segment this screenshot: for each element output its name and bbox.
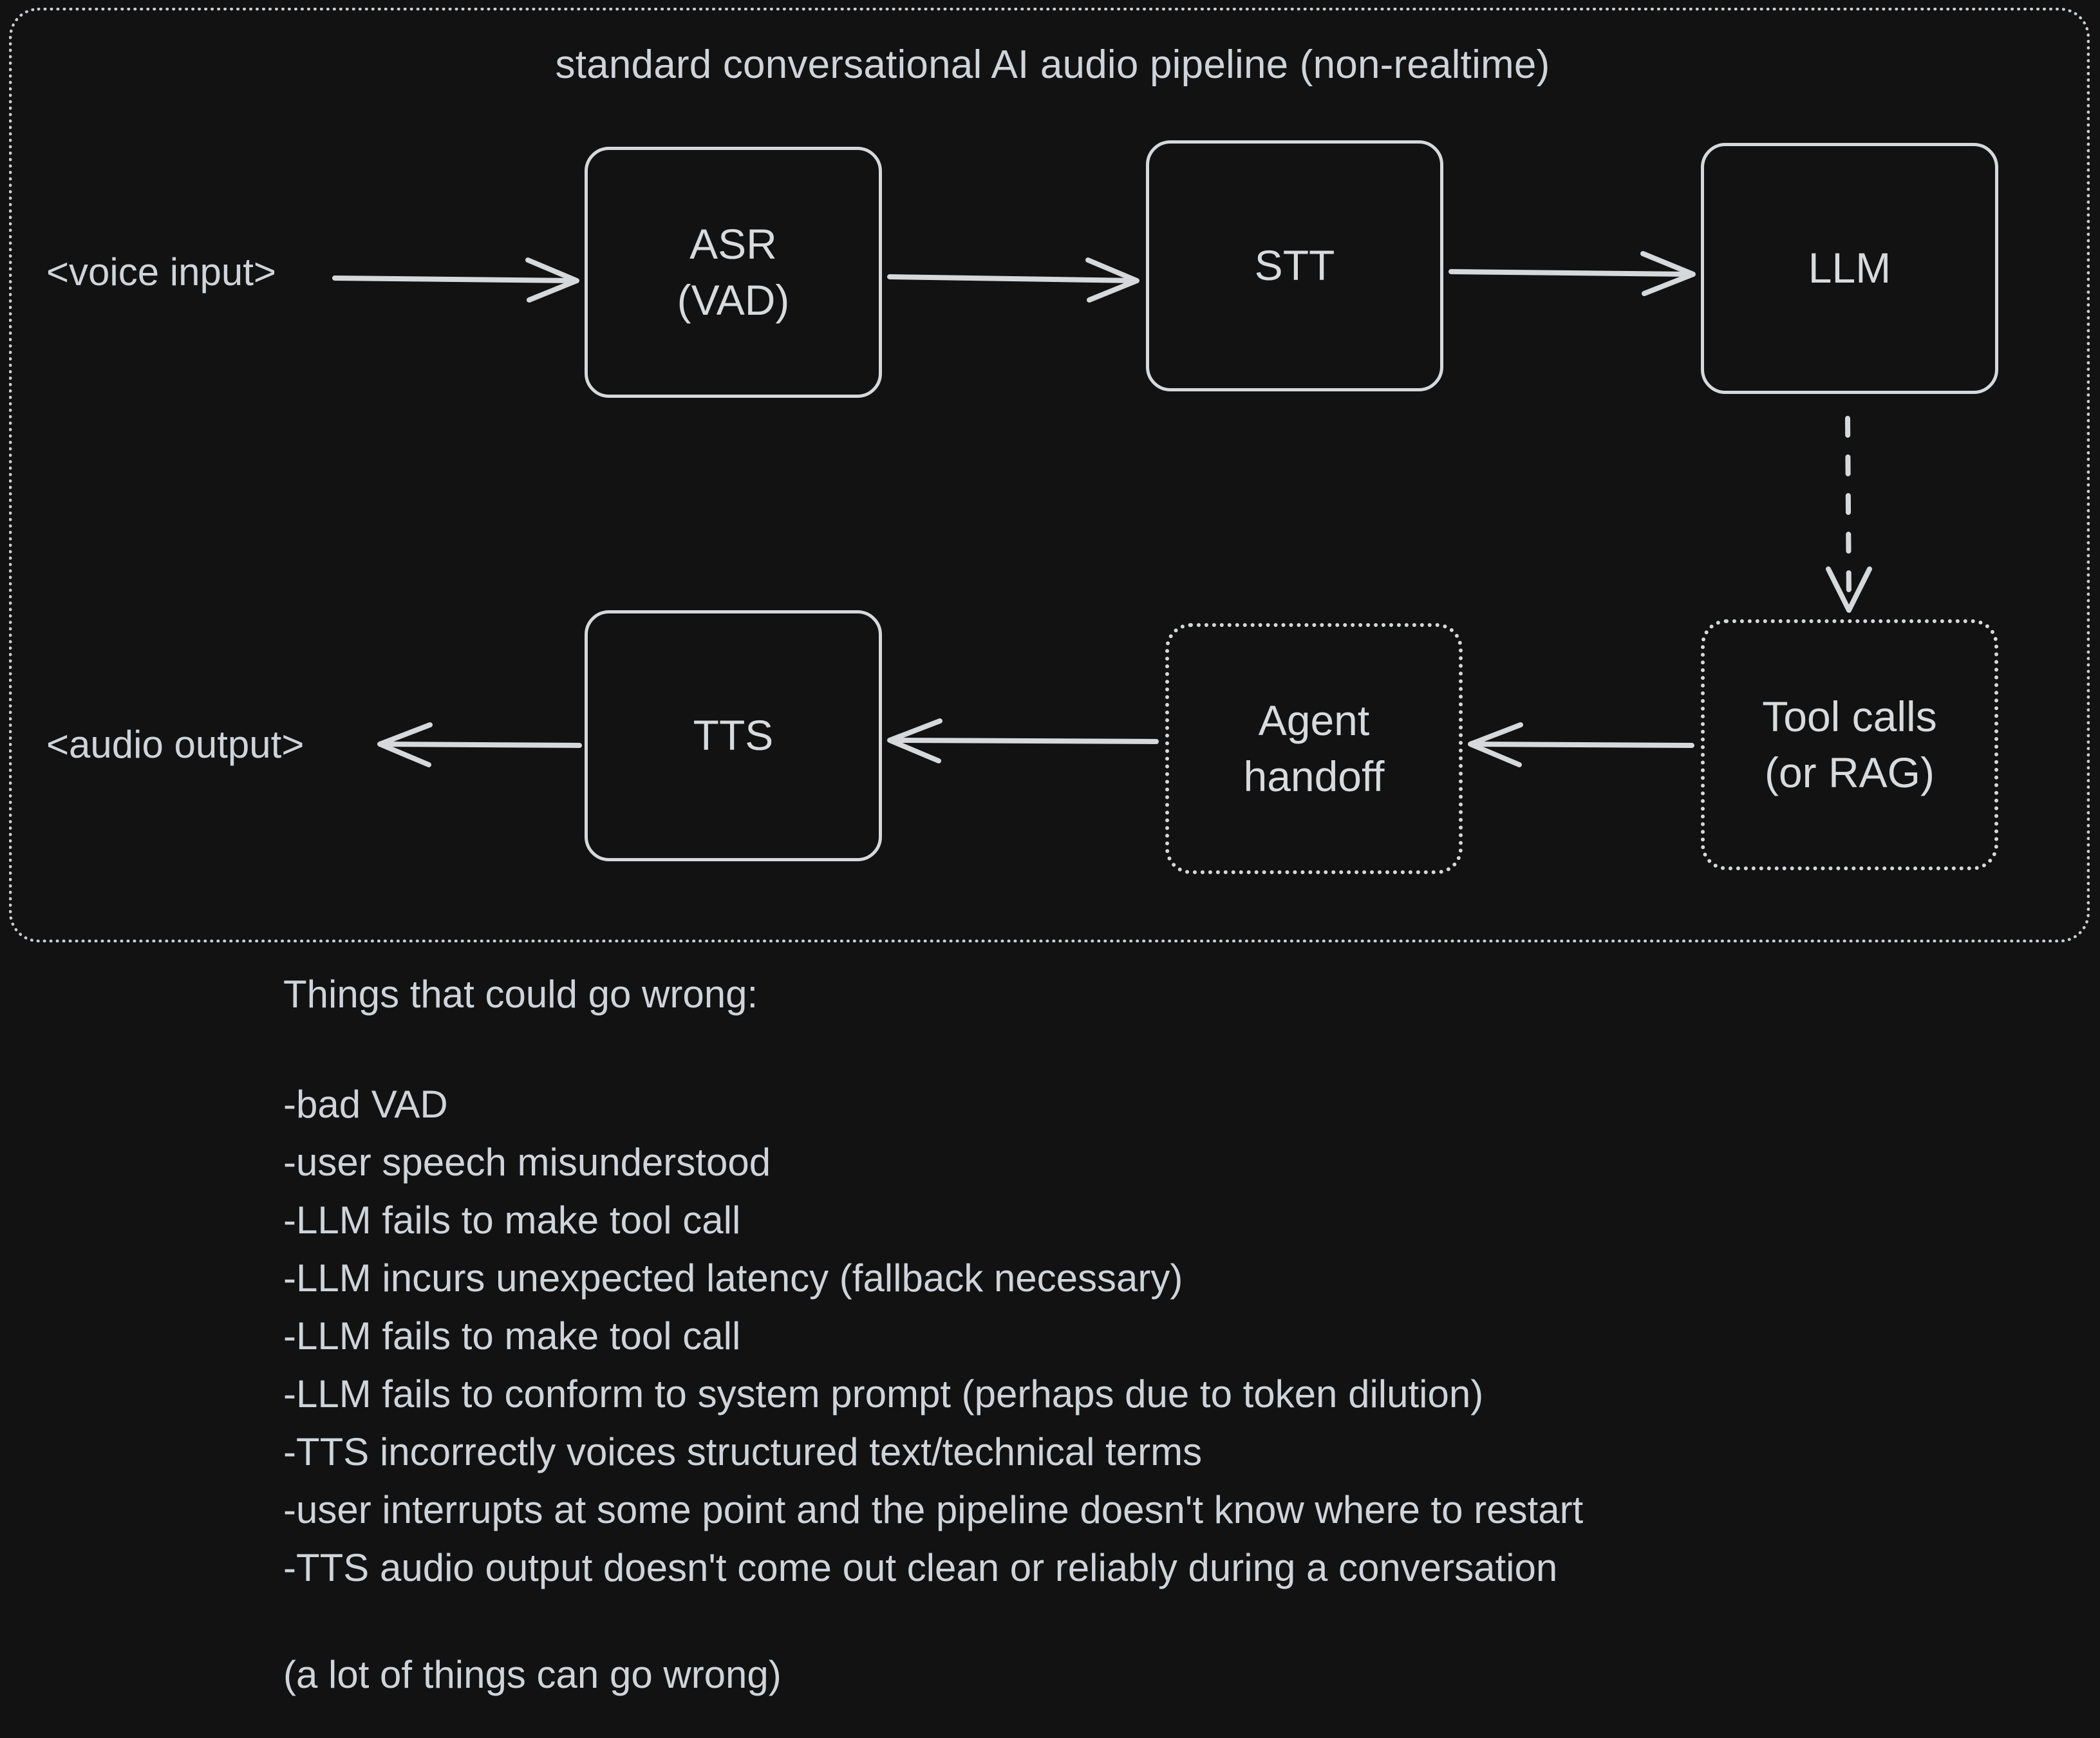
note-item: -bad VAD — [283, 1076, 2021, 1134]
notes-footer: (a lot of things can go wrong) — [283, 1652, 2021, 1697]
voice-input-label: <voice input> — [46, 250, 276, 294]
note-item: -LLM fails to make tool call — [283, 1307, 2021, 1365]
audio-output-label: <audio output> — [46, 722, 304, 767]
notes-list: -bad VAD-user speech misunderstood-LLM f… — [283, 1076, 2021, 1597]
node-asr[interactable]: ASR (VAD) — [585, 147, 882, 398]
node-stt[interactable]: STT — [1146, 140, 1443, 391]
note-item: -LLM incurs unexpected latency (fallback… — [283, 1249, 2021, 1307]
notes-section: Things that could go wrong: -bad VAD-use… — [283, 972, 2021, 1697]
pipeline-title: standard conversational AI audio pipelin… — [12, 42, 2093, 88]
note-item: -user speech misunderstood — [283, 1134, 2021, 1191]
node-tool-calls[interactable]: Tool calls (or RAG) — [1701, 619, 1998, 870]
note-item: -LLM fails to make tool call — [283, 1191, 2021, 1249]
note-item: -TTS incorrectly voices structured text/… — [283, 1423, 2021, 1481]
note-item: -LLM fails to conform to system prompt (… — [283, 1365, 2021, 1423]
node-agent-handoff[interactable]: Agent handoff — [1165, 623, 1463, 874]
notes-heading: Things that could go wrong: — [283, 972, 2021, 1016]
note-item: -TTS audio output doesn't come out clean… — [283, 1539, 2021, 1597]
node-tts[interactable]: TTS — [585, 610, 882, 861]
node-llm[interactable]: LLM — [1701, 143, 1998, 394]
note-item: -user interrupts at some point and the p… — [283, 1481, 2021, 1539]
